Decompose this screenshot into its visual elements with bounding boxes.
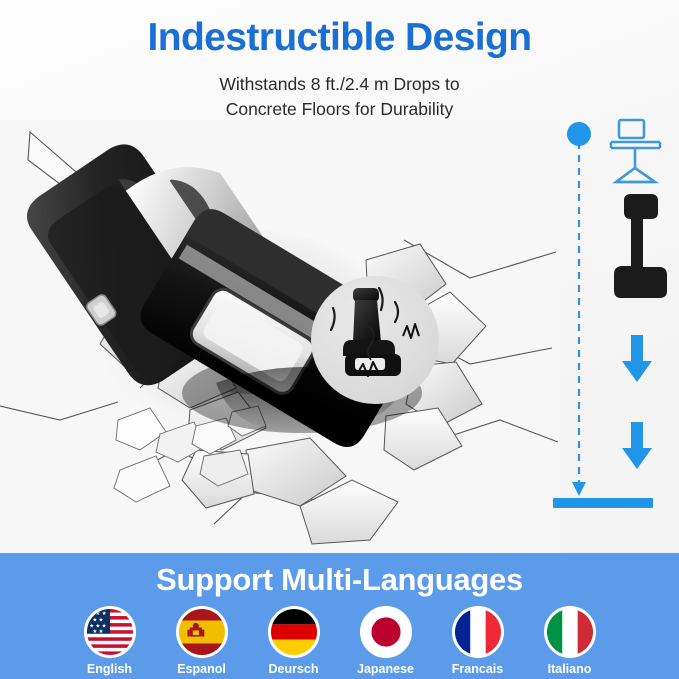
drop-height-diagram (548, 110, 679, 535)
language-item-francais[interactable]: Francais (444, 606, 511, 676)
subtitle-line-1: Withstands 8 ft./2.4 m Drops to (0, 72, 679, 97)
svg-text:★: ★ (98, 629, 103, 635)
floor-bar (553, 498, 653, 508)
down-arrow-2 (622, 422, 652, 469)
impact-closeup-inset (311, 276, 439, 404)
banner-title: Support Multi-Languages (0, 562, 679, 598)
svg-text:★: ★ (95, 611, 100, 617)
language-label: Espanol (177, 662, 226, 676)
language-label: Italiano (548, 662, 592, 676)
hero-product-photo (0, 120, 560, 555)
flag-us-icon: ★★★ ★★ ★★★ ★★ (84, 606, 136, 658)
flag-es-icon (176, 606, 228, 658)
svg-text:★: ★ (89, 611, 94, 617)
language-label: English (87, 662, 132, 676)
language-label: Francais (452, 662, 503, 676)
multi-language-banner: Support Multi-Languages (0, 553, 679, 679)
language-flag-list: ★★★ ★★ ★★★ ★★ English (0, 606, 679, 676)
flag-it-icon (544, 606, 596, 658)
flag-fr-icon (452, 606, 504, 658)
language-item-english[interactable]: ★★★ ★★ ★★★ ★★ English (76, 606, 143, 676)
language-item-espanol[interactable]: Espanol (168, 606, 235, 676)
language-label: Japanese (357, 662, 414, 676)
language-label: Deursch (268, 662, 318, 676)
desk-with-laptop-icon (611, 120, 660, 182)
drop-point-dot (567, 122, 591, 146)
language-item-deursch[interactable]: Deursch (260, 606, 327, 676)
svg-text:★: ★ (98, 617, 103, 623)
scanner-silhouette (614, 194, 667, 298)
language-item-italiano[interactable]: Italiano (536, 606, 603, 676)
svg-text:★: ★ (92, 629, 97, 635)
flag-de-icon (268, 606, 320, 658)
down-arrow-1 (622, 335, 652, 382)
flag-jp-icon (360, 606, 412, 658)
page-title: Indestructible Design (0, 16, 679, 60)
product-feature-image: Indestructible Design Withstands 8 ft./2… (0, 0, 679, 679)
language-item-japanese[interactable]: Japanese (352, 606, 419, 676)
svg-text:★: ★ (101, 611, 106, 617)
svg-text:★: ★ (92, 617, 97, 623)
drop-path-arrowhead (572, 482, 586, 496)
